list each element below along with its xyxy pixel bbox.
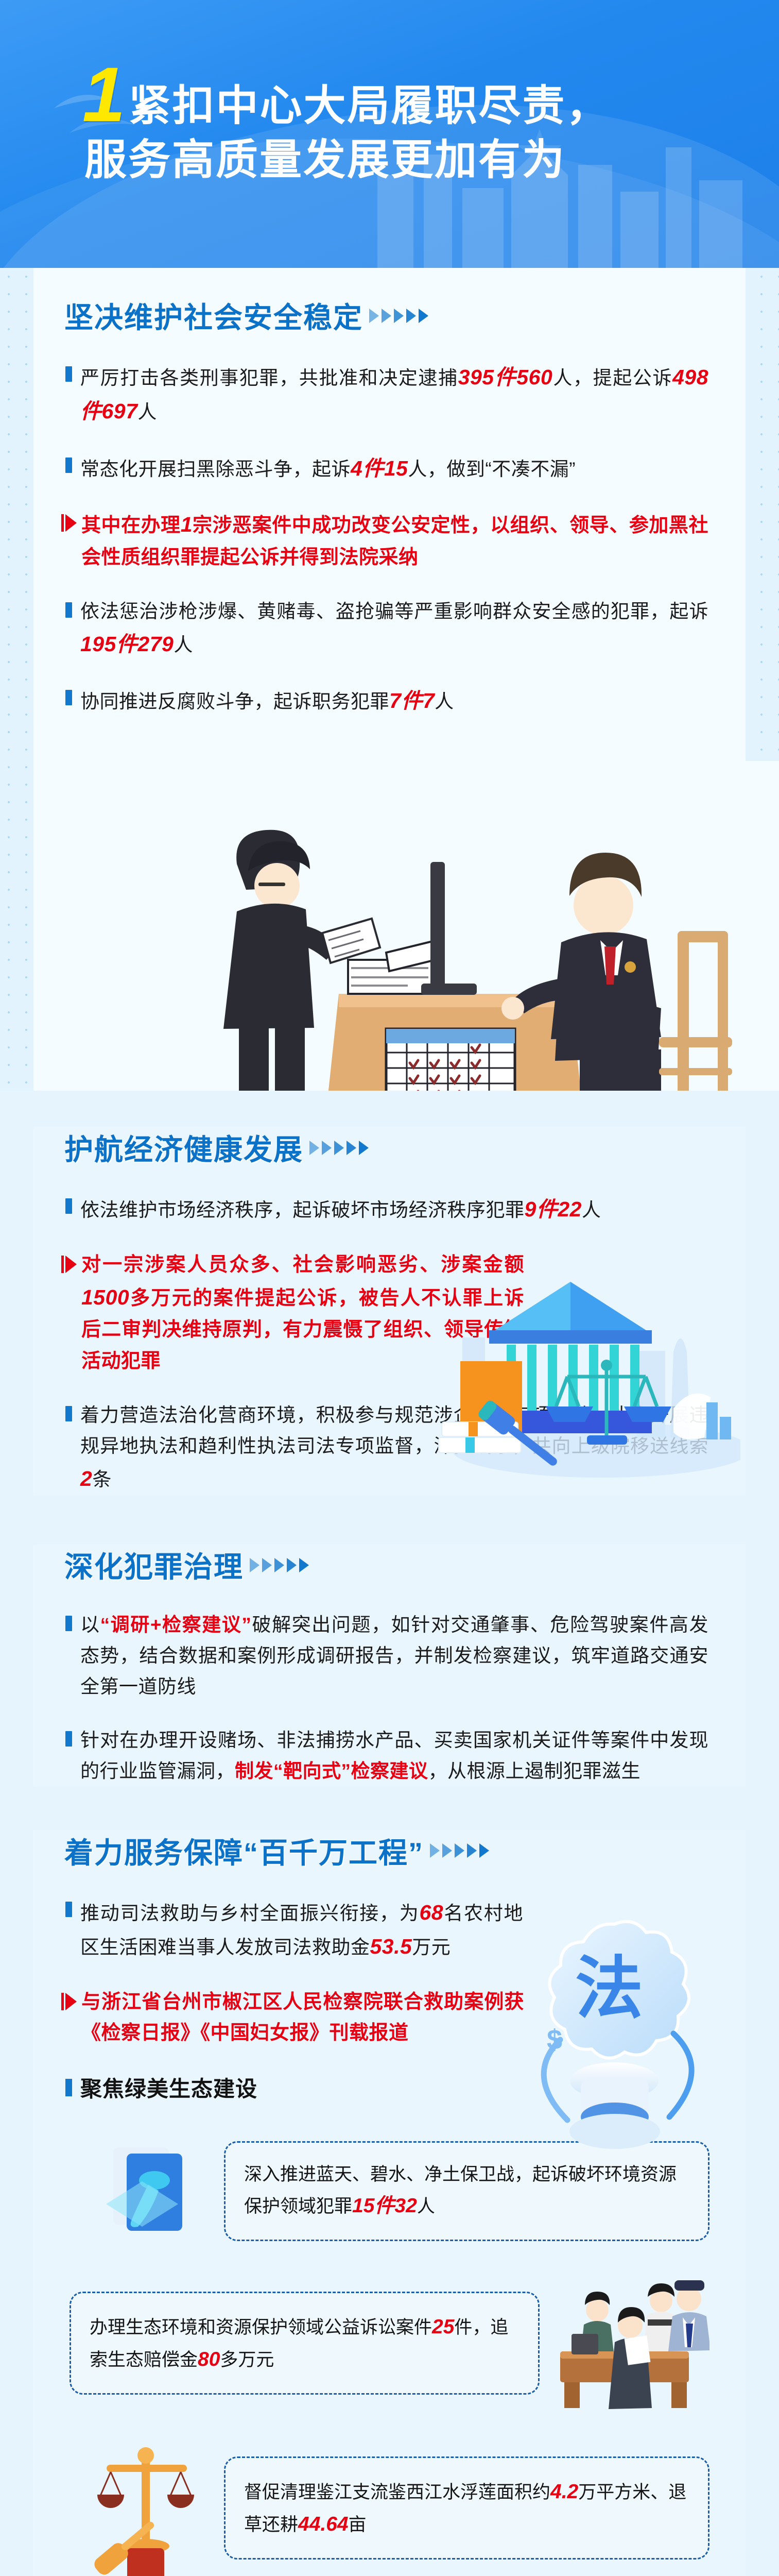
blue-square-marker-icon	[65, 602, 72, 618]
blue-square-marker-icon	[65, 690, 72, 705]
text-run: 推动司法救助与乡村全面振兴衔接，为	[80, 1903, 419, 1924]
bullet-item: 协同推进反腐败斗争，起诉职务犯罪7件7人	[65, 684, 708, 718]
text-run: 常态化开展扫黑除恶斗争，起诉	[80, 459, 351, 480]
stat-number: 7	[423, 689, 435, 713]
stat-number: 395	[458, 365, 494, 389]
header-title-line2: 服务高质量发展更加有为	[82, 135, 779, 185]
stat-number: 697	[102, 399, 138, 423]
text-run: 人	[582, 1199, 601, 1221]
bullet-text: 针对在办理开设赌场、非法捕捞水产品、买卖国家机关证件等案件中发现的行业监管漏洞，…	[80, 1725, 708, 1787]
subheading-marker-icon	[65, 2079, 72, 2096]
svg-text:法: 法	[575, 1951, 643, 2026]
text-run: 人，做到“不凑不漏”	[408, 459, 576, 480]
blue-square-marker-icon	[65, 1406, 72, 1421]
stat-number: 15	[384, 456, 408, 480]
blue-square-marker-icon	[65, 1902, 72, 1917]
stat-number: 22	[558, 1197, 582, 1221]
section-heading-crime-governance: 深化犯罪治理	[33, 1544, 746, 1586]
office-scene-illustration	[33, 761, 779, 1091]
eco-card-row: 督促清理鉴江支流鉴西江水浮莲面积约4.2万平方米、退草还耕44.64亩	[33, 2431, 746, 2576]
law-badge-illustration: 法 $	[504, 1911, 725, 2168]
heading-text: 坚决维护社会安全稳定	[64, 295, 363, 336]
text-run: 人	[417, 2196, 435, 2216]
text-run: 督促清理鉴江支流鉴西江水浮莲面积约	[244, 2482, 550, 2502]
stat-number: 560	[516, 365, 552, 389]
bullet-item: 常态化开展扫黑除恶斗争，起诉4件15人，做到“不凑不漏”	[65, 451, 708, 485]
section-bqw-project: 着力服务保障“百千万工程” 法	[0, 1815, 779, 2576]
section-economy: 护航经济健康发展	[0, 1091, 779, 1523]
section-crime-governance: 深化犯罪治理 以“调研+检察建议”破解突出问题，如针对交通肇事、危险驾驶案件高发…	[0, 1523, 779, 1815]
arrow-group-icon	[430, 1843, 489, 1858]
blue-square-marker-icon	[65, 1731, 72, 1747]
eco-card-text-wrap: 督促清理鉴江支流鉴西江水浮莲面积约4.2万平方米、退草还耕44.64亩	[224, 2456, 709, 2560]
blue-square-marker-icon	[65, 366, 72, 382]
stat-number: 15	[352, 2195, 374, 2217]
stat-number: 7	[389, 689, 401, 713]
stat-number: 件	[116, 632, 138, 656]
dashed-info-card: 督促清理鉴江支流鉴西江水浮莲面积约4.2万平方米、退草还耕44.64亩	[224, 2456, 709, 2560]
text-run: 人，提起公诉	[552, 367, 672, 388]
svg-text:$: $	[547, 2024, 562, 2055]
highlight-phrase: “调研+检察建议”	[100, 1614, 252, 1635]
scales-gavel-icon	[70, 2431, 224, 2576]
bullet-text: 其中在办理1宗涉恶案件中成功改变公安定性，以组织、领导、参加黑社会性质组织罪提起…	[81, 508, 708, 573]
bullet-text: 依法惩治涉枪涉爆、黄赌毒、盗抢骗等严重影响群众安全感的犯罪，起诉195件279人	[80, 596, 708, 661]
text-run: 协同推进反腐败斗争，起诉职务犯罪	[80, 691, 389, 712]
arrow-group-icon	[309, 1141, 369, 1155]
text-run: 与浙江省台州市椒江区人民检察院联合救助案例获《检察日报》《中国妇女报》刊载报道	[81, 1991, 524, 2044]
text-run: 依法惩治涉枪涉爆、黄赌毒、盗抢骗等严重影响群众安全感的犯罪，起诉	[80, 601, 708, 622]
bullet-list-crime-governance: 以“调研+检察建议”破解突出问题，如针对交通肇事、危险驾驶案件高发态势，结合数据…	[33, 1609, 746, 1787]
text-run: 以	[80, 1614, 100, 1635]
bullet-item: 严厉打击各类刑事犯罪，共批准和决定逮捕395件560人，提起公诉498件697人	[65, 360, 708, 429]
bullet-text: 与浙江省台州市椒江区人民检察院联合救助案例获《检察日报》《中国妇女报》刊载报道	[81, 1987, 524, 2049]
section-heading-bqw-project: 着力服务保障“百千万工程”	[33, 1830, 746, 1872]
stat-number: 件	[362, 456, 384, 480]
text-run: 人	[137, 401, 157, 422]
infographic-page: 1 紧扣中心大局履职尽责， 服务高质量发展更加有为 坚决维护社会安全稳定 严厉打…	[0, 0, 779, 2576]
courtroom-icon	[540, 2276, 709, 2410]
text-run: 人	[435, 691, 454, 712]
text-run: 深入推进蓝天、碧水、净土保卫战，起诉破坏环境资源保护领域犯罪	[244, 2164, 677, 2216]
eco-card-text: 深入推进蓝天、碧水、净土保卫战，起诉破坏环境资源保护领域犯罪15件32人	[244, 2160, 689, 2222]
text-run: 其中在办理	[81, 515, 181, 536]
courthouse-illustration	[431, 1269, 740, 1496]
text-run: ，从根源上遏制犯罪滋生	[428, 1760, 641, 1782]
text-run: 亩	[349, 2515, 367, 2535]
highlight-phrase: 制发“靶向式”检察建议	[235, 1760, 428, 1782]
stat-number: 44.64	[298, 2513, 349, 2535]
text-run: 严厉打击各类刑事犯罪，共批准和决定逮捕	[80, 367, 458, 388]
stat-number: 498	[672, 365, 708, 389]
red-arrow-marker-icon	[65, 1256, 77, 1273]
stat-number: 件	[374, 2195, 394, 2217]
stat-number: 件	[494, 365, 517, 389]
eco-card-list: 深入推进蓝天、碧水、净土保卫战，起诉破坏环境资源保护领域犯罪15件32人办理生态…	[33, 2127, 746, 2576]
bullet-item: 以“调研+检察建议”破解突出问题，如针对交通肇事、危险驾驶案件高发态势，结合数据…	[65, 1609, 708, 1702]
arrow-group-icon	[250, 1558, 309, 1572]
stat-number: 件	[80, 399, 102, 423]
stat-number: 279	[137, 632, 174, 656]
section-heading-economy: 护航经济健康发展	[33, 1127, 746, 1168]
eco-card-text: 办理生态环境和资源保护领域公益诉讼案件25件，追索生态赔偿金80多万元	[90, 2311, 520, 2376]
heading-text: 着力服务保障“百千万工程”	[64, 1830, 424, 1872]
page-header: 1 紧扣中心大局履职尽责， 服务高质量发展更加有为	[0, 0, 779, 268]
text-run: 人	[174, 634, 193, 655]
bullet-text: 协同推进反腐败斗争，起诉职务犯罪7件7人	[80, 684, 454, 718]
stat-number: 1	[181, 513, 193, 536]
blue-square-marker-icon	[65, 457, 72, 473]
bullet-item: 依法惩治涉枪涉爆、黄赌毒、盗抢骗等严重影响群众安全感的犯罪，起诉195件279人	[65, 596, 708, 661]
eco-card-text-wrap: 办理生态环境和资源保护领域公益诉讼案件25件，追索生态赔偿金80多万元	[70, 2292, 540, 2395]
stat-number: 4.2	[550, 2481, 578, 2503]
stat-number: 9	[525, 1197, 536, 1221]
bullet-text: 严厉打击各类刑事犯罪，共批准和决定逮捕395件560人，提起公诉498件697人	[80, 360, 708, 429]
bullet-text: 常态化开展扫黑除恶斗争，起诉4件15人，做到“不凑不漏”	[80, 451, 576, 485]
text-run: 办理生态环境和资源保护领域公益诉讼案件	[90, 2317, 432, 2337]
stat-number: 32	[394, 2195, 417, 2217]
eco-card-text: 督促清理鉴江支流鉴西江水浮莲面积约4.2万平方米、退草还耕44.64亩	[244, 2476, 689, 2540]
header-title-line1: 紧扣中心大局履职尽责，	[128, 62, 610, 131]
bullet-text: 推动司法救助与乡村全面振兴衔接，为68名农村地区生活困难当事人发放司法救助金53…	[80, 1895, 523, 1964]
stat-number: 195	[80, 632, 116, 656]
tablet-icon	[70, 2127, 224, 2256]
text-run: 条	[92, 1469, 112, 1490]
stat-number: 1500	[81, 1285, 129, 1309]
text-run: 万元	[412, 1937, 451, 1958]
subheading-text: 聚焦绿美生态建设	[80, 2072, 257, 2103]
bullet-text: 以“调研+检察建议”破解突出问题，如针对交通肇事、危险驾驶案件高发态势，结合数据…	[80, 1609, 708, 1702]
red-arrow-marker-icon	[65, 1993, 77, 2010]
stat-number: 80	[198, 2348, 220, 2370]
bullet-item: 针对在办理开设赌场、非法捕捞水产品、买卖国家机关证件等案件中发现的行业监管漏洞，…	[65, 1725, 708, 1787]
heading-text: 护航经济健康发展	[64, 1127, 303, 1168]
stat-number: 25	[432, 2316, 454, 2338]
stat-number: 件	[401, 689, 423, 713]
blue-square-marker-icon	[65, 1198, 72, 1214]
blue-square-marker-icon	[65, 1616, 72, 1631]
bullet-item: 依法维护市场经济秩序，起诉破坏市场经济秩序犯罪9件22人	[65, 1192, 708, 1226]
arrow-group-icon	[369, 309, 428, 323]
red-arrow-marker-icon	[65, 514, 77, 532]
stat-number: 53.5	[370, 1935, 412, 1958]
stat-number: 2	[80, 1467, 92, 1490]
text-run: 依法维护市场经济秩序，起诉破坏市场经济秩序犯罪	[80, 1199, 525, 1221]
dashed-info-card: 办理生态环境和资源保护领域公益诉讼案件25件，追索生态赔偿金80多万元	[70, 2292, 540, 2395]
bullet-item: 其中在办理1宗涉恶案件中成功改变公安定性，以组织、领导、参加黑社会性质组织罪提起…	[65, 508, 708, 573]
section-number: 1	[82, 62, 123, 128]
section-heading-social-stability: 坚决维护社会安全稳定	[33, 295, 746, 336]
bullet-list-social-stability: 严厉打击各类刑事犯罪，共批准和决定逮捕395件560人，提起公诉498件697人…	[33, 360, 746, 718]
stat-number: 件	[536, 1197, 558, 1221]
stat-number: 4	[351, 456, 362, 480]
text-run: 多万元	[220, 2350, 274, 2370]
eco-card-row: 办理生态环境和资源保护领域公益诉讼案件25件，追索生态赔偿金80多万元	[33, 2276, 746, 2410]
heading-text: 深化犯罪治理	[64, 1544, 244, 1586]
bullet-text: 依法维护市场经济秩序，起诉破坏市场经济秩序犯罪9件22人	[80, 1192, 601, 1226]
section-social-stability: 坚决维护社会安全稳定 严厉打击各类刑事犯罪，共批准和决定逮捕395件560人，提…	[0, 268, 779, 1091]
stat-number: 68	[419, 1901, 443, 1924]
